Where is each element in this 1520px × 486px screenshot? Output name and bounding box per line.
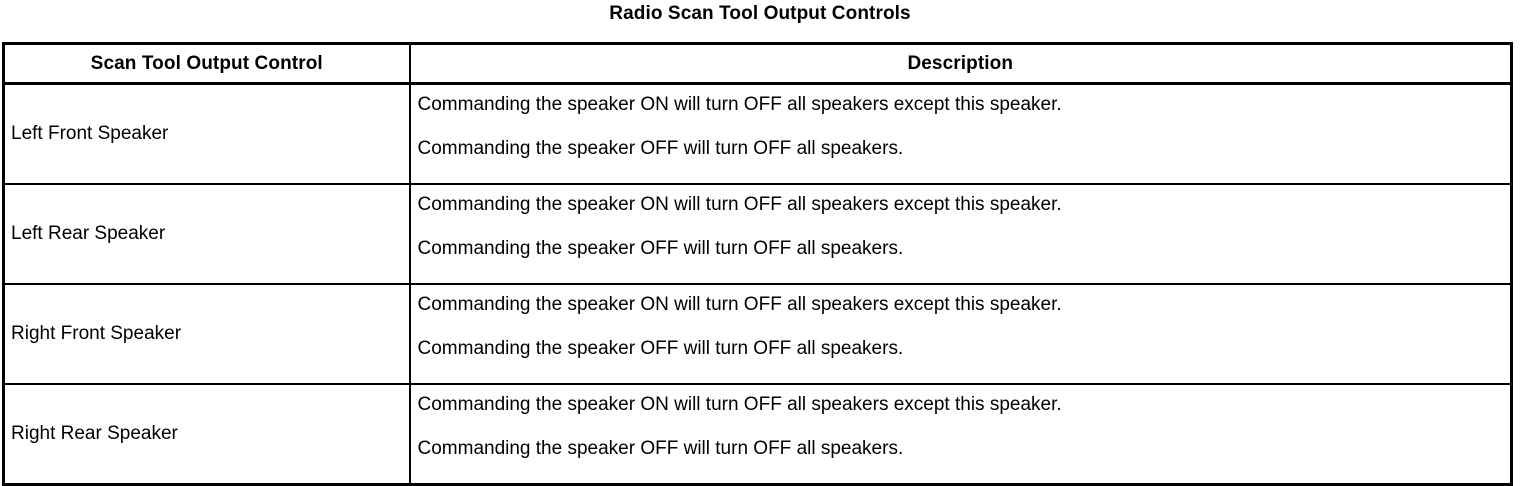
description-paragraph-off: Commanding the speaker OFF will turn OFF… (418, 216, 1511, 260)
table-row: Right Rear Speaker Commanding the speake… (4, 384, 1512, 485)
cell-control-name: Right Rear Speaker (4, 384, 410, 485)
table-header-row: Scan Tool Output Control Description (4, 44, 1512, 84)
description-paragraph-off: Commanding the speaker OFF will turn OFF… (418, 116, 1511, 160)
cell-description: Commanding the speaker ON will turn OFF … (410, 284, 1512, 384)
table-row: Left Front Speaker Commanding the speake… (4, 84, 1512, 185)
description-paragraph-on: Commanding the speaker ON will turn OFF … (418, 85, 1511, 116)
cell-description: Commanding the speaker ON will turn OFF … (410, 84, 1512, 185)
table-row: Left Rear Speaker Commanding the speaker… (4, 184, 1512, 284)
table-body: Left Front Speaker Commanding the speake… (4, 84, 1512, 485)
column-header-control: Scan Tool Output Control (4, 44, 410, 84)
description-paragraph-on: Commanding the speaker ON will turn OFF … (418, 185, 1511, 216)
cell-description: Commanding the speaker ON will turn OFF … (410, 384, 1512, 485)
page-title: Radio Scan Tool Output Controls (0, 0, 1520, 25)
description-paragraph-on: Commanding the speaker ON will turn OFF … (418, 285, 1511, 316)
description-paragraph-off: Commanding the speaker OFF will turn OFF… (418, 316, 1511, 360)
scan-tool-output-controls-table: Scan Tool Output Control Description Lef… (2, 42, 1513, 486)
cell-control-name: Right Front Speaker (4, 284, 410, 384)
cell-control-name: Left Front Speaker (4, 84, 410, 185)
column-header-description: Description (410, 44, 1512, 84)
table-row: Right Front Speaker Commanding the speak… (4, 284, 1512, 384)
table-container: Scan Tool Output Control Description Lef… (2, 42, 1510, 486)
cell-description: Commanding the speaker ON will turn OFF … (410, 184, 1512, 284)
table-header: Scan Tool Output Control Description (4, 44, 1512, 84)
cell-control-name: Left Rear Speaker (4, 184, 410, 284)
document-page: Radio Scan Tool Output Controls Scan Too… (0, 0, 1520, 484)
description-paragraph-off: Commanding the speaker OFF will turn OFF… (418, 416, 1511, 460)
description-paragraph-on: Commanding the speaker ON will turn OFF … (418, 385, 1511, 416)
